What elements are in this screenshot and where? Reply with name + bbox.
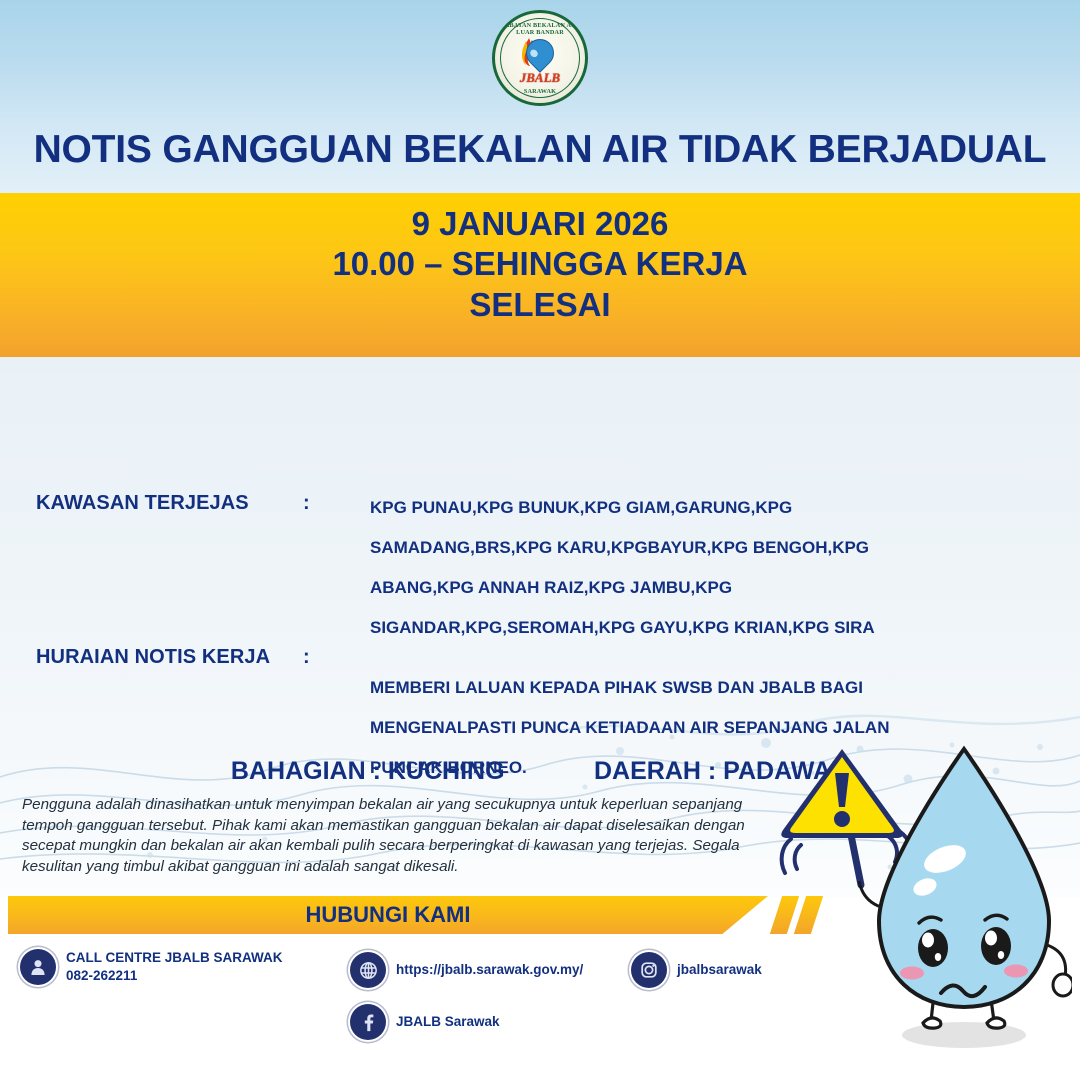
person-icon [20, 949, 56, 985]
work-description-line: MEMBERI LALUAN KEPADA PIHAK SWSB DAN JBA… [370, 668, 889, 708]
logo-wordmark: JBALB [495, 70, 585, 86]
contact-facebook[interactable]: JBALB Sarawak [350, 1004, 500, 1040]
contact-call-centre[interactable]: CALL CENTRE JBALB SARAWAK 082-262211 [20, 949, 283, 985]
instagram-icon [631, 952, 667, 988]
affected-areas-label: KAWASAN TERJEJAS [36, 492, 249, 515]
facebook-name: JBALB Sarawak [396, 1013, 500, 1031]
website-url: https://jbalb.sarawak.gov.my/ [396, 961, 583, 979]
jbalb-logo: JABATAN BEKALAN AIR LUAR BANDAR JBALB SA… [492, 10, 588, 106]
notice-date: 9 JANUARI 2026 [0, 199, 1080, 244]
logo-arc-bottom-text: SARAWAK [495, 88, 585, 95]
work-description-label: HURAIAN NOTIS KERJA [36, 646, 270, 669]
date-time-band: 9 JANUARI 2026 10.00 – SEHINGGA KERJA SE… [0, 193, 1080, 357]
contact-instagram[interactable]: jbalbsarawak [631, 952, 762, 988]
contact-banner: HUBUNGI KAMI [8, 896, 768, 934]
notice-time: 10.00 – SEHINGGA KERJA [0, 244, 1080, 284]
affected-area-line: ABANG,KPG ANNAH RAIZ,KPG JAMBU,KPG [370, 568, 875, 608]
contact-website[interactable]: https://jbalb.sarawak.gov.my/ [350, 952, 583, 988]
call-centre-name: CALL CENTRE JBALB SARAWAK [66, 950, 283, 965]
notice-time-cont: SELESAI [0, 285, 1080, 325]
page-title: NOTIS GANGGUAN BEKALAN AIR TIDAK BERJADU… [0, 128, 1080, 172]
affected-areas-value: KPG PUNAU,KPG BUNUK,KPG GIAM,GARUNG,KPG … [370, 488, 875, 648]
call-centre-text: CALL CENTRE JBALB SARAWAK 082-262211 [66, 949, 283, 985]
affected-areas-colon: : [303, 492, 310, 515]
affected-area-line: SIGANDAR,KPG,SEROMAH,KPG GAYU,KPG KRIAN,… [370, 608, 875, 648]
logo-arc-top-text: JABATAN BEKALAN AIR LUAR BANDAR [495, 22, 585, 36]
call-centre-number: 082-262211 [66, 968, 137, 983]
logo-circle: JABATAN BEKALAN AIR LUAR BANDAR JBALB SA… [492, 10, 588, 106]
water-droplet-mascot [857, 735, 1072, 1070]
poster-header: JABATAN BEKALAN AIR LUAR BANDAR JBALB SA… [0, 0, 1080, 193]
notice-poster: JABATAN BEKALAN AIR LUAR BANDAR JBALB SA… [0, 0, 1080, 1080]
contact-banner-title: HUBUNGI KAMI [8, 896, 768, 934]
disclaimer-text: Pengguna adalah dinasihatkan untuk menyi… [22, 795, 770, 878]
globe-icon [350, 952, 386, 988]
work-description-colon: : [303, 646, 310, 669]
affected-area-line: KPG PUNAU,KPG BUNUK,KPG GIAM,GARUNG,KPG [370, 488, 875, 528]
affected-area-line: SAMADANG,BRS,KPG KARU,KPGBAYUR,KPG BENGO… [370, 528, 875, 568]
instagram-handle: jbalbsarawak [677, 961, 762, 979]
facebook-icon [350, 1004, 386, 1040]
banner-slash-2 [794, 896, 823, 934]
